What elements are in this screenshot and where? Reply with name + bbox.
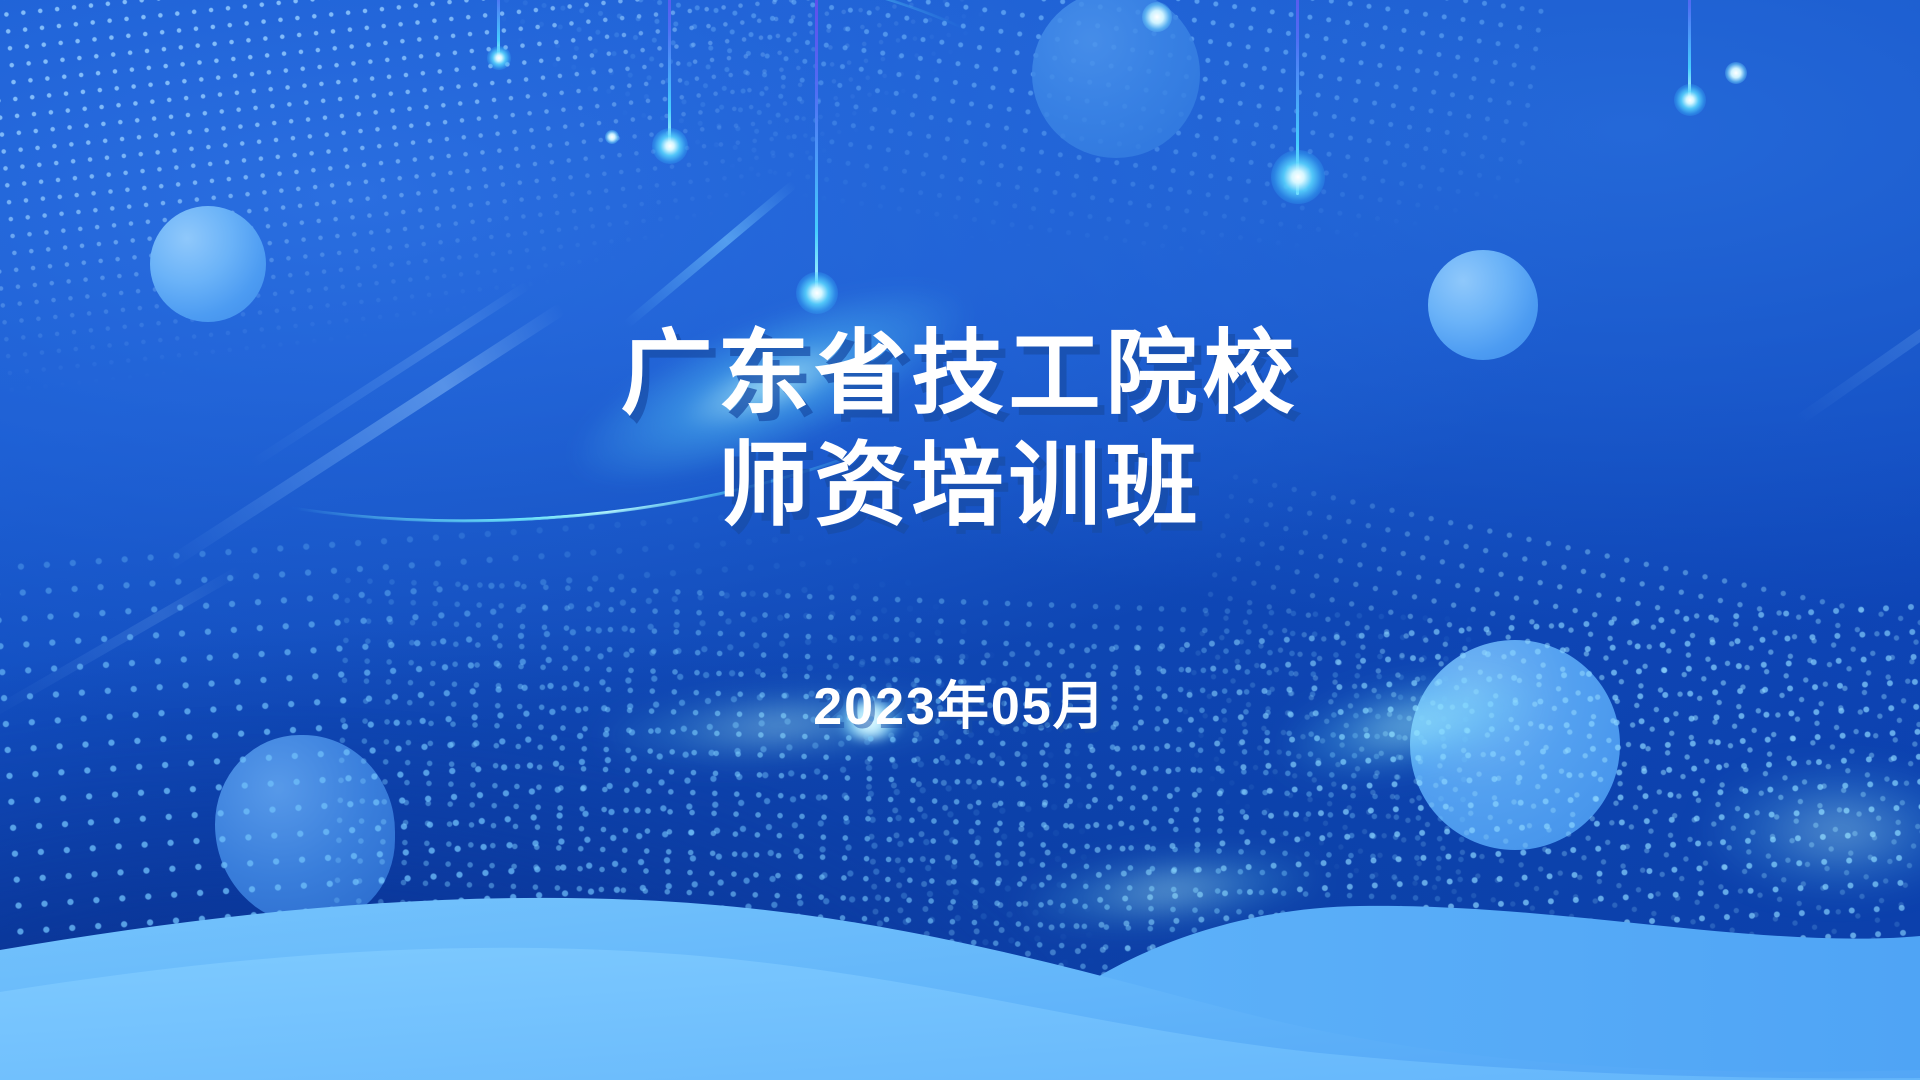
top-right-dot-field <box>393 0 1566 346</box>
meteor-head-icon <box>652 128 688 164</box>
meteor-head-icon <box>1674 84 1706 116</box>
title-slide: 广东省技工院校 师资培训班 2023年05月 <box>0 0 1920 1080</box>
glow-spot <box>1700 760 1920 900</box>
glow-spot <box>1017 840 1323 941</box>
title-text-block: 广东省技工院校 师资培训班 2023年05月 <box>0 318 1920 739</box>
sparkle-dot-icon <box>1725 62 1747 84</box>
slide-date: 2023年05月 <box>813 664 1107 739</box>
meteor-tail <box>1688 0 1691 98</box>
meteor-head-icon <box>487 46 511 70</box>
meteor-tail <box>497 0 500 62</box>
decorative-sphere <box>150 206 266 322</box>
wave-back <box>980 906 1920 1080</box>
bottom-wave-graphic <box>0 740 1920 1080</box>
sparkle-dot-icon <box>605 130 619 144</box>
meteor-tail <box>668 0 671 148</box>
diagonal-streak <box>623 180 797 328</box>
sparkle-dot-icon <box>1142 2 1172 32</box>
decorative-sphere <box>215 735 395 925</box>
meteor-head-icon <box>796 272 838 314</box>
wave-front <box>0 948 1920 1080</box>
meteor-tail <box>815 0 818 300</box>
page-title-line-2: 师资培训班 <box>717 430 1202 542</box>
meteor-head-icon <box>1271 150 1325 204</box>
page-title-line-1: 广东省技工院校 <box>620 318 1299 430</box>
wave-main <box>0 898 1920 1080</box>
decorative-sphere <box>1032 0 1200 158</box>
meteor-tail <box>1296 0 1299 195</box>
